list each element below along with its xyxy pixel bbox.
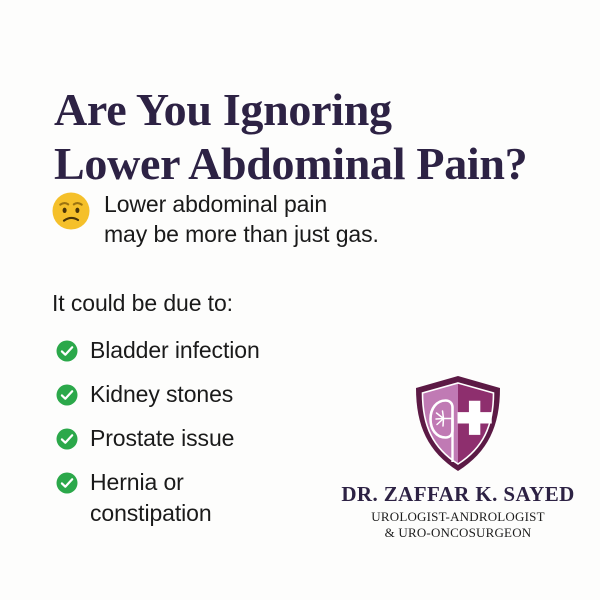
symptom-checklist: Bladder infection Kidney stones Prostate… bbox=[56, 335, 356, 542]
headline-line-1: Are You Ignoring bbox=[54, 83, 594, 137]
poster-canvas: Are You Ignoring Lower Abdominal Pain? L… bbox=[0, 0, 600, 600]
subtitle-line-2: may be more than just gas. bbox=[104, 219, 379, 249]
clinic-doctor-name: DR. ZAFFAR K. SAYED bbox=[330, 482, 586, 506]
list-item: Prostate issue bbox=[56, 423, 356, 454]
clinic-logo-block: DR. ZAFFAR K. SAYED UROLOGIST-ANDROLOGIS… bbox=[330, 374, 586, 541]
subtitle-text: Lower abdominal pain may be more than ju… bbox=[104, 189, 379, 249]
clinic-tagline-line-1: UROLOGIST-ANDROLOGIST bbox=[330, 509, 586, 525]
list-item: Bladder infection bbox=[56, 335, 356, 366]
check-circle-icon bbox=[56, 340, 78, 362]
subtitle-row: Lower abdominal pain may be more than ju… bbox=[52, 189, 379, 249]
clinic-tagline: UROLOGIST-ANDROLOGIST & URO-ONCOSURGEON bbox=[330, 509, 586, 541]
list-item: Kidney stones bbox=[56, 379, 356, 410]
lead-in-text: It could be due to: bbox=[52, 288, 233, 318]
list-item-label: Bladder infection bbox=[90, 335, 260, 366]
check-circle-icon bbox=[56, 428, 78, 450]
check-circle-icon bbox=[56, 384, 78, 406]
list-item-label: Hernia or constipation bbox=[90, 467, 305, 529]
headline-line-2: Lower Abdominal Pain? bbox=[54, 137, 594, 191]
list-item: Hernia or constipation bbox=[56, 467, 356, 529]
subtitle-line-1: Lower abdominal pain bbox=[104, 189, 379, 219]
list-item-label: Kidney stones bbox=[90, 379, 233, 410]
shield-kidney-cross-icon bbox=[412, 374, 504, 474]
worried-face-emoji bbox=[52, 192, 90, 230]
page-title: Are You Ignoring Lower Abdominal Pain? bbox=[54, 83, 594, 191]
check-circle-icon bbox=[56, 472, 78, 494]
list-item-label: Prostate issue bbox=[90, 423, 234, 454]
clinic-tagline-line-2: & URO-ONCOSURGEON bbox=[330, 525, 586, 541]
